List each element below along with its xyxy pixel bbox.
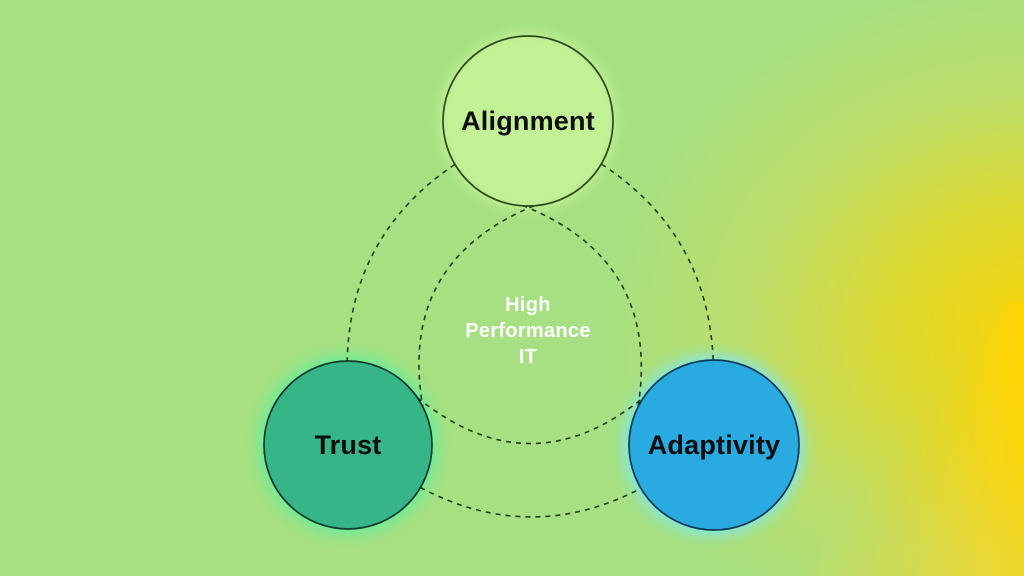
outer-arc-alignment-trust <box>347 164 455 361</box>
outer-arc-adaptivity-alignment <box>601 164 713 360</box>
center-label-line-1: High <box>505 294 551 316</box>
inner-arc-trust-adaptivity <box>417 398 643 444</box>
center-label-line-2: Performance <box>465 320 591 342</box>
node-label-adaptivity: Adaptivity <box>648 430 781 460</box>
outer-arc-trust-adaptivity <box>420 488 641 517</box>
node-label-alignment: Alignment <box>461 106 595 136</box>
triad-diagram: Alignment Trust Adaptivity High Performa… <box>0 0 1024 576</box>
center-label-line-3: IT <box>519 346 537 368</box>
center-label: High Performance IT <box>465 294 591 368</box>
diagram-canvas: Alignment Trust Adaptivity High Performa… <box>0 0 1024 576</box>
node-label-trust: Trust <box>314 430 381 460</box>
